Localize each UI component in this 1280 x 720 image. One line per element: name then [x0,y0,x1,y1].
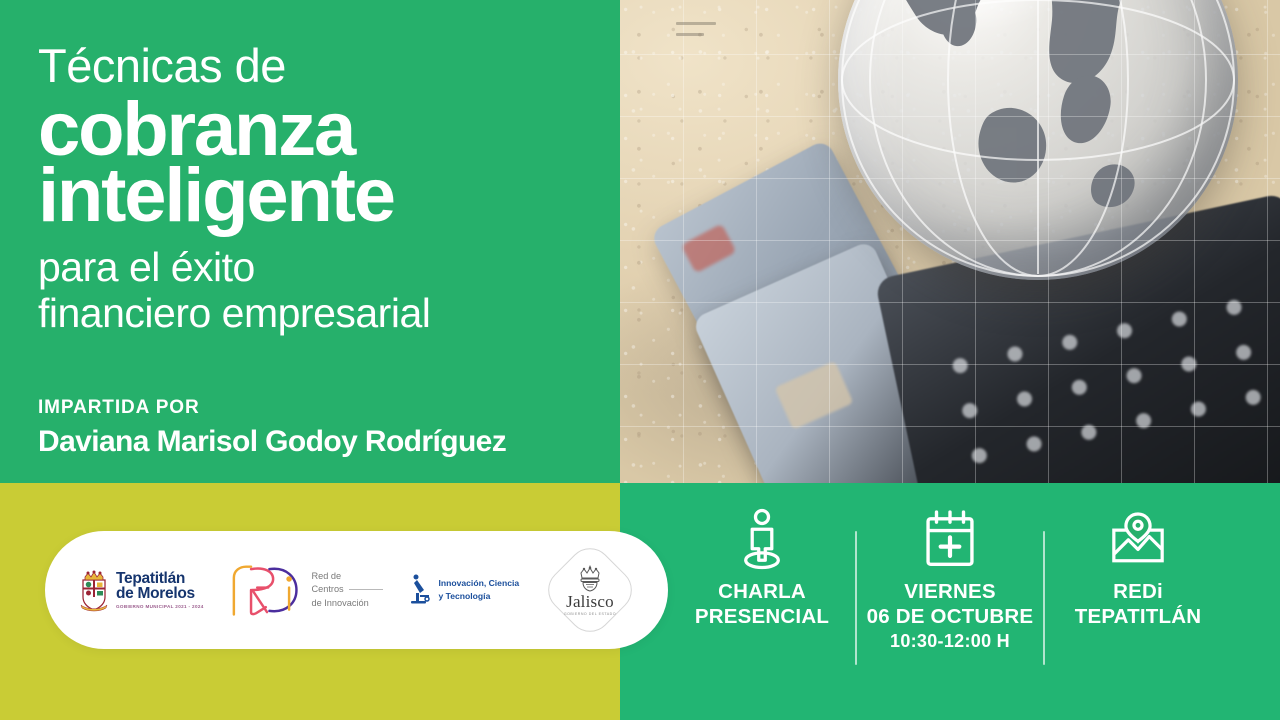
crown-icon [575,564,605,592]
logo-innovacion-ciencia-tecnologia: Innovación, Ciencia y Tecnología [409,573,519,607]
modality-line-2: PRESENCIAL [669,604,855,629]
hero-photo [620,0,1280,483]
tepatitlan-crest-icon [79,568,109,612]
redi-wordmark: Red de Centros de Innovación [311,570,382,610]
tepatitlan-wordmark: Tepatitlán de Morelos GOBIERNO MUNICIPAL… [116,571,204,610]
info-column-modality: CHARLA PRESENCIAL [669,483,855,629]
event-info-bar: CHARLA PRESENCIAL VIERNES 06 DE OCTUBRE … [620,483,1280,720]
venue-line-2: TEPATITLÁN [1045,604,1231,629]
speaker-block: IMPARTIDA POR Daviana Marisol Godoy Rodr… [38,398,506,459]
title-line-1: Técnicas de [38,42,598,91]
innovacion-line-2: y Tecnología [438,590,519,603]
date-line-3: 10:30-12:00 H [857,631,1043,653]
redi-line-1: Red de [311,570,382,583]
innovacion-wordmark: Innovación, Ciencia y Tecnología [438,577,519,603]
redi-rule [349,589,383,590]
photo-grid-overlay [620,0,1280,483]
info-column-venue: REDi TEPATITLÁN [1045,483,1231,629]
redi-line-2: Centros [311,584,343,594]
event-poster: Técnicas de cobranza inteligente para el… [0,0,1280,720]
photo-line-marks [676,22,716,44]
innovacion-line-1: Innovación, Ciencia [438,577,519,590]
info-column-date: VIERNES 06 DE OCTUBRE 10:30-12:00 H [857,483,1043,653]
logo-redi: Red de Centros de Innovación [230,563,382,617]
map-location-icon [1045,509,1231,569]
speaker-name: Daviana Marisol Godoy Rodríguez [38,425,506,460]
sponsor-logo-card: Tepatitlán de Morelos GOBIERNO MUNICIPAL… [45,531,668,649]
tepatitlan-line-1: Tepatitlán [116,571,204,587]
headline-panel: Técnicas de cobranza inteligente para el… [0,0,620,483]
tepatitlan-line-2: de Morelos [116,586,204,602]
title-line-5: financiero empresarial [38,291,598,337]
date-line-2: 06 DE OCTUBRE [857,604,1043,629]
jalisco-subtitle: GOBIERNO DEL ESTADO [564,612,616,616]
poster-title: Técnicas de cobranza inteligente para el… [38,42,598,337]
date-line-1: VIERNES [857,579,1043,604]
logo-tepatitlan-de-morelos: Tepatitlán de Morelos GOBIERNO MUNICIPAL… [79,568,204,612]
calendar-plus-icon [857,509,1043,569]
microscope-icon [409,573,431,607]
redi-mark-icon [230,563,304,617]
title-line-3: inteligente [38,161,598,231]
redi-line-3: de Innovación [311,597,382,610]
venue-line-1: REDi [1045,579,1231,604]
tepatitlan-line-3: GOBIERNO MUNICIPAL 2021 - 2024 [116,605,204,610]
jalisco-content: Jalisco GOBIERNO DEL ESTADO [564,564,616,616]
speaker-kicker: IMPARTIDA POR [38,398,506,419]
title-line-4: para el éxito [38,245,598,291]
jalisco-wordmark: Jalisco [564,593,616,610]
speaker-person-icon [669,509,855,569]
modality-line-1: CHARLA [669,579,855,604]
